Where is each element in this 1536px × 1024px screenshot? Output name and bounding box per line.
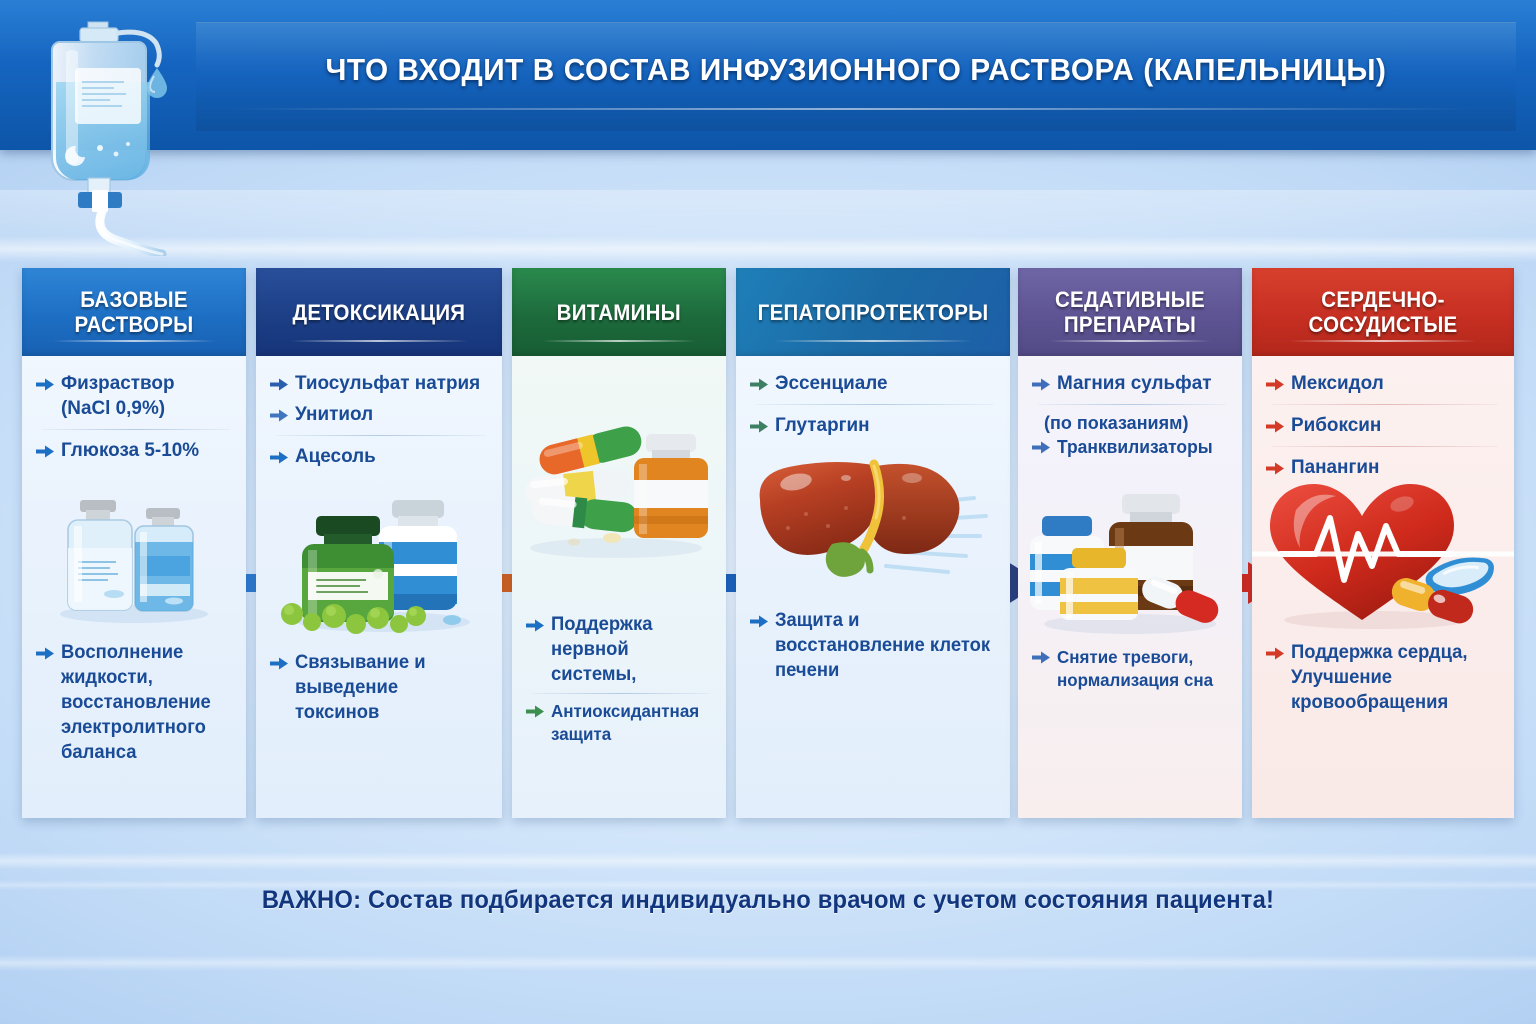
background-streak (0, 190, 1536, 260)
column-vitamins[interactable]: ВИТАМИНЫ B1 B6 B12 C (512, 268, 726, 818)
list-item-label: Транквилизаторы (1057, 435, 1213, 460)
list-item-label: Магния сульфат (1057, 371, 1212, 396)
list-divider (42, 429, 230, 430)
benefit-label: Поддержка сердца, Улучшение кровообращен… (1291, 640, 1496, 715)
bullet-arrow-icon (750, 378, 768, 391)
page-title: ЧТО ВХОДИТ В СОСТАВ ИНФУЗИОННОГО РАСТВОР… (222, 52, 1489, 88)
list-item[interactable]: Мексидол (1252, 368, 1514, 399)
benefit-item[interactable]: Поддержка сердца, Улучшение кровообращен… (1266, 640, 1502, 715)
list-divider (1272, 446, 1498, 447)
list-item-label: Унитиол (295, 402, 373, 427)
column-title: ГЕПАТОПРОТЕКТОРЫ (758, 300, 989, 325)
list-item-label: Мексидол (1291, 371, 1384, 396)
important-note: ВАЖНО: Состав подбирается индивидуально … (38, 886, 1497, 915)
column-header-hepatoprotectors: ГЕПАТОПРОТЕКТОРЫ (736, 268, 1010, 356)
benefit-label: Защита и восстановление клеток печени (775, 608, 991, 683)
liver-organ-icon (736, 448, 1010, 588)
heart-with-pulse-icon (1252, 474, 1514, 634)
column-items: Эссенциале Глутаргин (736, 356, 1010, 441)
list-item-label: Глутаргин (775, 413, 870, 438)
bullet-arrow-icon (270, 409, 288, 422)
bullet-arrow-icon (750, 420, 768, 433)
column-title: ВИТАМИНЫ (557, 300, 681, 325)
benefit-label: Восполнение жидкости, восстановление эле… (61, 640, 229, 765)
column-benefits: Снятие тревоги, нормализация сна (1018, 646, 1242, 692)
list-divider (756, 404, 994, 405)
list-item[interactable]: Глюкоза 5-10% (22, 435, 246, 466)
benefit-label: Антиоксидантная защита (551, 700, 709, 746)
column-header-vitamins: ВИТАМИНЫ (512, 268, 726, 356)
list-item[interactable]: Рибоксин (1252, 410, 1514, 441)
bullet-arrow-icon (1266, 378, 1284, 391)
list-divider (1038, 404, 1226, 405)
background-streak (0, 955, 1536, 971)
iv-drip-bag-icon (14, 6, 214, 256)
bullet-arrow-icon (1032, 378, 1050, 391)
column-header-cardiovascular: СЕРДЕЧНО- СОСУДИСТЫЕ (1252, 268, 1514, 356)
benefit-label: Связывание и выведение токсинов (295, 650, 484, 725)
column-sedatives[interactable]: СЕДАТИВНЫЕ ПРЕПАРАТЫ Магния сульфат (по … (1018, 268, 1242, 818)
indication-note: (по показаниям) (1018, 410, 1242, 435)
column-hepatoprotectors[interactable]: ГЕПАТОПРОТЕКТОРЫ Эссенциале Глутаргин (736, 268, 1010, 818)
list-item-label: Эссенциале (775, 371, 888, 396)
column-title: СЕРДЕЧНО- СОСУДИСТЫЕ (1261, 287, 1505, 337)
background-streak (0, 236, 1536, 262)
list-item[interactable]: Транквилизаторы (1018, 435, 1242, 463)
bullet-arrow-icon (526, 619, 544, 632)
column-header-sedatives: СЕДАТИВНЫЕ ПРЕПАРАТЫ (1018, 268, 1242, 356)
column-items: Физраствор (NaCl 0,9%) Глюкоза 5-10% (22, 356, 246, 466)
column-title: БАЗОВЫЕ РАСТВОРЫ (30, 287, 238, 337)
benefit-item[interactable]: Защита и восстановление клеток печени (750, 608, 998, 683)
list-item-label: Ацесоль (295, 444, 376, 469)
bullet-arrow-icon (1032, 651, 1050, 664)
bullet-arrow-icon (1266, 647, 1284, 660)
bullet-arrow-icon (1032, 441, 1050, 454)
header-underline (230, 108, 1470, 110)
list-item-label: Рибоксин (1291, 413, 1381, 438)
benefit-label: Снятие тревоги, нормализация сна (1057, 646, 1225, 692)
bullet-arrow-icon (270, 657, 288, 670)
bullet-arrow-icon (526, 705, 544, 718)
benefit-item[interactable]: Снятие тревоги, нормализация сна (1032, 646, 1230, 692)
column-items: Тиосульфат натрия Унитиол Ацесоль (256, 356, 502, 472)
bullet-arrow-icon (36, 647, 54, 660)
infographic-canvas: ЧТО ВХОДИТ В СОСТАВ ИНФУЗИОННОГО РАСТВОР… (0, 0, 1536, 1024)
bullet-arrow-icon (270, 451, 288, 464)
column-items: Мексидол Рибоксин Панангин (1252, 356, 1514, 483)
two-glass-vials-icon (22, 486, 246, 626)
green-and-blue-bottles-icon (256, 480, 502, 640)
bullet-arrow-icon (270, 378, 288, 391)
column-base-solutions[interactable]: БАЗОВЫЕ РАСТВОРЫ Физраствор (NaCl 0,9%) … (22, 268, 246, 818)
list-item[interactable]: Тиосульфат натрия (256, 368, 502, 399)
list-item-label: Физраствор (NaCl 0,9%) (61, 371, 229, 421)
list-item-label: Глюкоза 5-10% (61, 438, 199, 463)
benefit-item[interactable]: Связывание и выведение токсинов (270, 650, 490, 725)
column-items: Магния сульфат (по показаниям) Транквили… (1018, 356, 1242, 463)
column-title: ДЕТОКСИКАЦИЯ (293, 300, 466, 325)
background-streak (0, 852, 1536, 870)
column-benefits: Восполнение жидкости, восстановление эле… (22, 640, 246, 765)
benefit-label: Поддержка нервной системы, (551, 612, 709, 687)
benefit-item[interactable]: Восполнение жидкости, восстановление эле… (36, 640, 234, 765)
list-divider (276, 435, 486, 436)
bullet-arrow-icon (36, 378, 54, 391)
bullet-arrow-icon (1266, 420, 1284, 433)
list-item[interactable]: Унитиол (256, 399, 502, 430)
column-detoxification[interactable]: ДЕТОКСИКАЦИЯ Тиосульфат натрия Унитиол А… (256, 268, 502, 818)
benefit-item[interactable]: Поддержка нервной системы, (526, 612, 714, 687)
list-item[interactable]: Глутаргин (736, 410, 1010, 441)
capsules-and-pill-bottle-icon (512, 408, 726, 568)
column-cardiovascular[interactable]: СЕРДЕЧНО- СОСУДИСТЫЕ Мексидол Рибоксин П… (1252, 268, 1514, 818)
pill-bottles-and-capsule-icon (1018, 482, 1242, 642)
column-header-base-solutions: БАЗОВЫЕ РАСТВОРЫ (22, 268, 246, 356)
list-item[interactable]: Ацесоль (256, 441, 502, 472)
column-benefits: Связывание и выведение токсинов (256, 650, 502, 725)
benefit-item[interactable]: Антиоксидантная защита (526, 700, 714, 746)
list-divider (1272, 404, 1498, 405)
column-title: СЕДАТИВНЫЕ ПРЕПАРАТЫ (1026, 287, 1234, 337)
column-benefits: Поддержка нервной системы, Антиоксидантн… (512, 612, 726, 746)
list-item-label: Тиосульфат натрия (295, 371, 480, 396)
column-benefits: Поддержка сердца, Улучшение кровообращен… (1252, 640, 1514, 715)
list-item[interactable]: Магния сульфат (1018, 368, 1242, 399)
list-divider (532, 693, 710, 694)
bullet-arrow-icon (36, 445, 54, 458)
column-header-detoxification: ДЕТОКСИКАЦИЯ (256, 268, 502, 356)
column-benefits: Защита и восстановление клеток печени (736, 608, 1010, 683)
bullet-arrow-icon (750, 615, 768, 628)
list-item[interactable]: Физраствор (NaCl 0,9%) (22, 368, 246, 424)
list-item[interactable]: Эссенциале (736, 368, 1010, 399)
header-banner: ЧТО ВХОДИТ В СОСТАВ ИНФУЗИОННОГО РАСТВОР… (0, 0, 1536, 150)
